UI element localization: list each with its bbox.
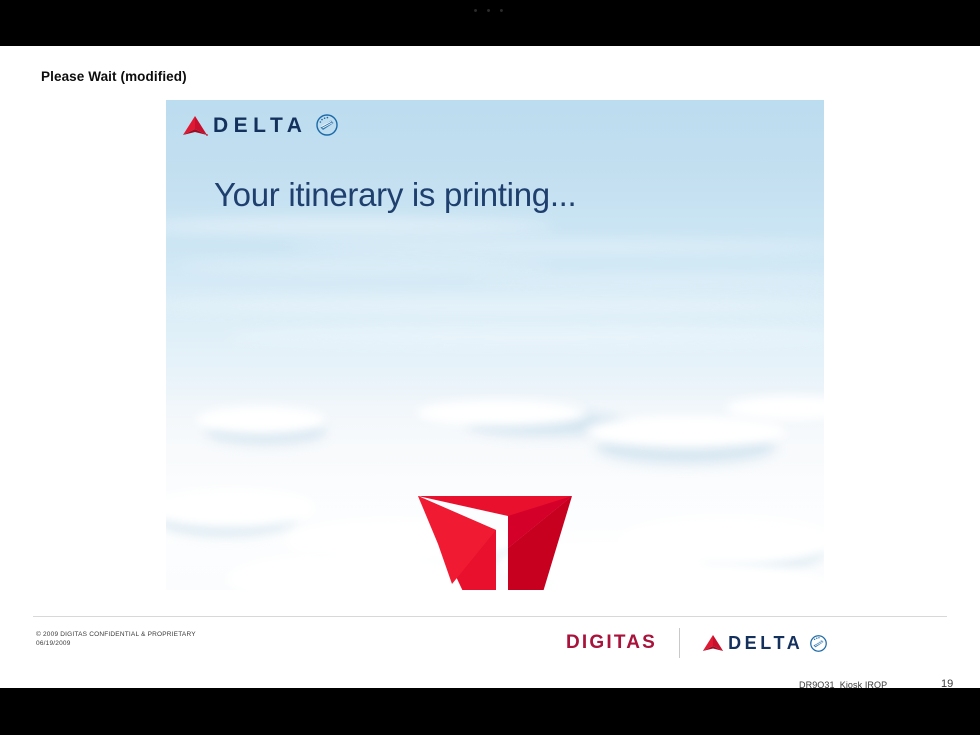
cloud-puff [196,406,326,434]
viewer-bottom-bar [0,688,980,735]
viewer-menu-ellipsis-icon[interactable]: • • • [0,7,980,15]
cloud-puff [286,518,516,566]
cloud-band [286,240,824,253]
copyright-line-1: © 2009 DIGITAS CONFIDENTIAL & PROPRIETAR… [36,630,196,639]
copyright-date: 06/19/2009 [36,639,196,648]
cloud-band [466,276,824,287]
cloud-puff [416,400,586,426]
cloud-haze-layer [166,380,824,590]
page-title: Please Wait (modified) [41,69,187,84]
viewer-top-bar: • • • [0,0,980,46]
cloud-puff-shadow [636,530,824,572]
cloud-puff-shadow [166,500,296,536]
logo-separator [679,628,680,658]
cloud-band [176,260,556,272]
skyteam-icon [810,635,827,652]
cloud-puff [616,516,824,566]
delta-wordmark: DELTA [728,634,803,652]
cloud-puff [166,488,316,528]
footer-logo-group: DIGITAS DELTA [566,628,827,658]
cloud-band [166,218,556,234]
skyteam-icon [316,114,338,136]
copyright-notice: © 2009 DIGITAS CONFIDENTIAL & PROPRIETAR… [36,630,196,648]
kiosk-screen-mock: Your itinerary is printing... DELTA [166,100,824,590]
cloud-band [226,326,824,346]
delta-widget-icon [702,634,724,652]
delta-brand-lockup: DELTA [182,114,338,136]
cloud-band [166,296,824,314]
slide-viewer: • • • Please Wait (modified) [0,0,980,735]
cloud-puff [496,540,706,586]
cloud-puff-shadow [466,412,626,436]
cloud-puff [546,562,824,590]
kiosk-headline: Your itinerary is printing... [214,176,576,214]
delta-wordmark: DELTA [213,115,307,136]
cloud-puff [726,396,824,420]
cloud-puff-shadow [316,530,516,570]
delta-widget-icon [182,115,208,136]
slide-footer: © 2009 DIGITAS CONFIDENTIAL & PROPRIETAR… [0,617,980,687]
cloud-puff-shadow [596,430,776,464]
delta-widget-icon [412,484,578,590]
cloud-puff-shadow [206,418,326,444]
delta-brand-lockup: DELTA [702,634,827,652]
digitas-logo: DIGITAS [566,632,657,654]
slide-page: Please Wait (modified) [0,46,980,688]
cloud-puff [226,552,486,590]
cloud-puff [586,416,786,448]
